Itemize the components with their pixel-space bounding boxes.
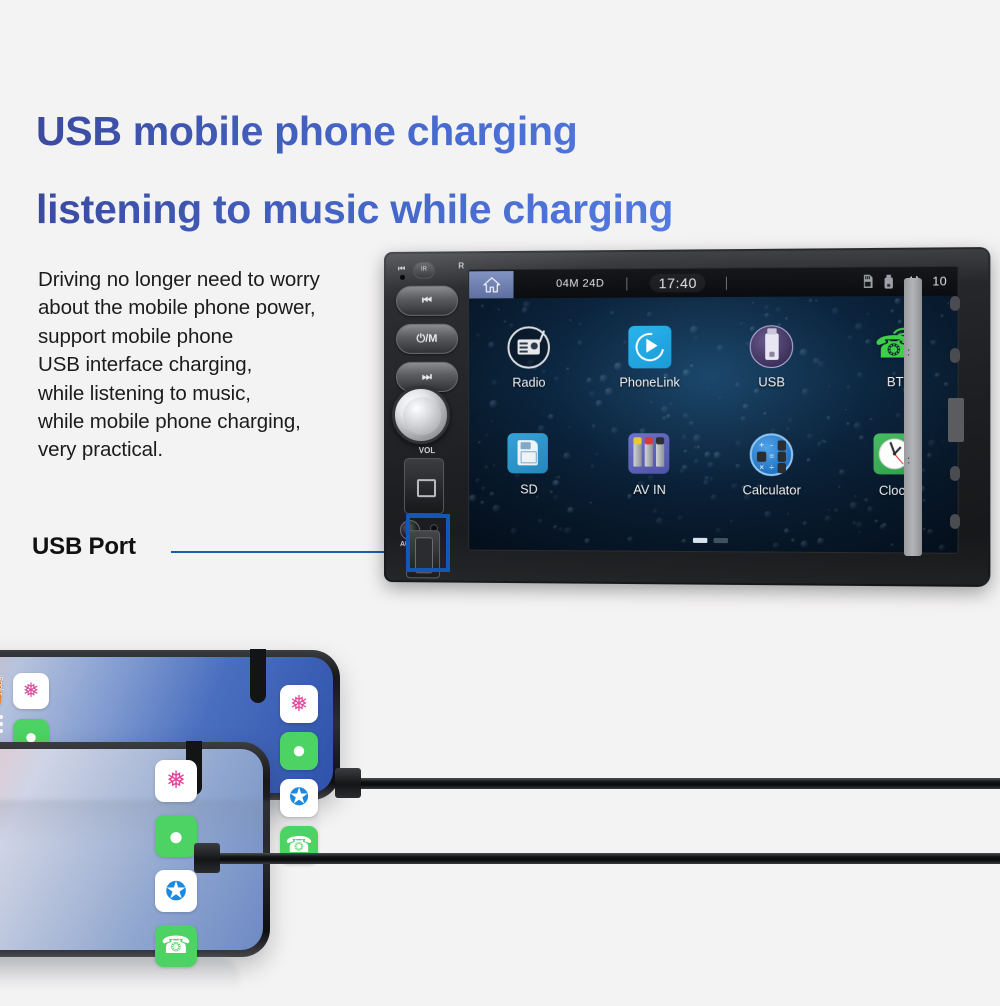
app-av-in[interactable]: AV IN — [589, 411, 710, 519]
charging-cable-back — [359, 778, 1000, 789]
radio-icon — [508, 326, 551, 368]
description-line: while listening to music, — [38, 380, 408, 408]
calc-key: ÷ — [767, 462, 776, 472]
phone-icon[interactable]: ☎ — [155, 925, 197, 967]
status-time: 17:40 — [650, 274, 705, 293]
cage-hole — [950, 296, 960, 311]
description-line: Driving no longer need to worry — [38, 266, 408, 294]
calc-key — [777, 462, 786, 472]
photos-icon[interactable]: ❅ — [280, 685, 318, 723]
cage-hole — [950, 466, 960, 481]
car-stereo-head-unit: ∶ ∶ ⏮ IR R ⏮ ⏻/M ⏭ VOL AUX RES — [384, 252, 984, 587]
app-calculator[interactable]: + - = × ÷ Calculator — [710, 411, 833, 519]
headline-line-1: USB mobile phone charging — [36, 92, 836, 170]
app-phonelink[interactable]: PhoneLink — [589, 303, 710, 411]
ir-label: R — [458, 261, 464, 270]
usb-port-callout-label: USB Port — [32, 533, 136, 561]
safari-icon[interactable]: ✪ — [155, 870, 197, 912]
prev-glyph-icon: ⏮ — [398, 264, 405, 274]
power-mode-button[interactable]: ⏻/M — [396, 324, 458, 354]
calculator-icon: + - = × ÷ — [750, 433, 794, 476]
page-dot[interactable] — [714, 538, 728, 543]
rail-screw: ∶ — [907, 454, 920, 467]
sd-card-app-icon — [508, 433, 551, 475]
cage-hole — [950, 514, 960, 529]
volume-level: 10 — [932, 274, 947, 288]
app-label: PhoneLink — [619, 375, 680, 389]
home-button[interactable] — [469, 271, 513, 298]
status-bar: 04M 24D 17:40 — [469, 267, 957, 299]
stereo-front-panel: ⏮ IR R ⏮ ⏻/M ⏭ VOL AUX RES — [384, 247, 990, 587]
page-dot-active[interactable] — [693, 538, 707, 543]
headline-line-2: listening to music while charging — [36, 170, 836, 248]
status-divider — [627, 277, 628, 290]
calc-key: = — [767, 451, 776, 461]
prev-track-button[interactable]: ⏮ — [396, 286, 458, 316]
volume-knob[interactable] — [392, 386, 450, 444]
app-grid: Radio PhoneLink USB — [469, 302, 957, 520]
description-line: while mobile phone charging, — [38, 408, 408, 436]
app-label: Radio — [512, 375, 545, 389]
usb-drive-icon — [750, 325, 794, 368]
phonelink-icon — [628, 325, 671, 368]
phone-reflection — [0, 956, 240, 1006]
description-line: very practical. — [38, 436, 408, 464]
messages-icon[interactable]: ● — [280, 732, 318, 770]
ff-button[interactable]: IR — [413, 262, 435, 279]
usb-icon — [884, 274, 893, 288]
rail-screw: ∶ — [907, 346, 920, 359]
description-line: USB interface charging, — [38, 351, 408, 379]
ir-receiver-icon — [400, 275, 405, 280]
calc-key: + — [757, 440, 766, 450]
description-line: about the mobile phone power, — [38, 294, 408, 322]
page-dots-back-phone — [0, 715, 3, 733]
calc-key: - — [767, 440, 776, 450]
app-radio[interactable]: Radio — [469, 304, 589, 411]
app-sd[interactable]: SD — [469, 411, 589, 518]
usb-port-callout-line — [171, 551, 419, 553]
app-bt[interactable]: ☎ BT — [833, 302, 957, 411]
calc-key — [777, 451, 786, 461]
headline: USB mobile phone charging listening to m… — [36, 92, 836, 248]
charging-cable-front — [218, 853, 1000, 864]
volume-marking: VOL — [400, 446, 454, 455]
lcd-touchscreen[interactable]: 04M 24D 17:40 — [468, 266, 959, 554]
av-in-icon — [628, 433, 671, 476]
messages-icon[interactable]: ● — [155, 815, 197, 857]
volume-knob-face — [403, 397, 441, 435]
app-label: BT — [887, 374, 904, 388]
app-caption: iBooks — [0, 675, 3, 696]
usb-port-highlight-box — [406, 514, 450, 572]
calc-key — [757, 451, 766, 461]
app-label: SD — [520, 482, 538, 496]
cage-rail — [904, 278, 922, 556]
calc-key — [777, 440, 786, 450]
app-label: Calculator — [743, 483, 801, 497]
phone-notch — [250, 649, 266, 703]
app-usb[interactable]: USB — [710, 302, 833, 410]
cage-slot — [948, 398, 964, 442]
phone-charging-scene: ❅ ● ☰ 📖 N News Reminders iBooks ❅ — [0, 640, 1000, 1000]
photos-icon[interactable]: ❅ — [155, 760, 197, 802]
home-icon — [482, 276, 501, 293]
photos-icon[interactable]: ❅ — [13, 673, 49, 709]
page-indicator[interactable] — [693, 538, 728, 543]
safari-icon[interactable]: ✪ — [280, 779, 318, 817]
calc-key: × — [757, 462, 766, 472]
description-paragraph: Driving no longer need to worry about th… — [38, 266, 408, 465]
app-label: USB — [758, 375, 785, 389]
app-clock[interactable]: Clock — [833, 411, 957, 520]
lightning-plug-front — [194, 843, 220, 873]
status-date: 04M 24D — [556, 277, 604, 289]
ir-sensor-row: ⏮ IR R — [398, 261, 460, 281]
sd-card-slot[interactable] — [404, 458, 444, 514]
lightning-plug-back — [335, 768, 361, 798]
cage-hole — [950, 348, 960, 363]
description-line: support mobile phone — [38, 323, 408, 351]
sd-card-icon — [862, 275, 874, 289]
status-divider — [726, 276, 727, 289]
app-label: AV IN — [633, 482, 666, 496]
